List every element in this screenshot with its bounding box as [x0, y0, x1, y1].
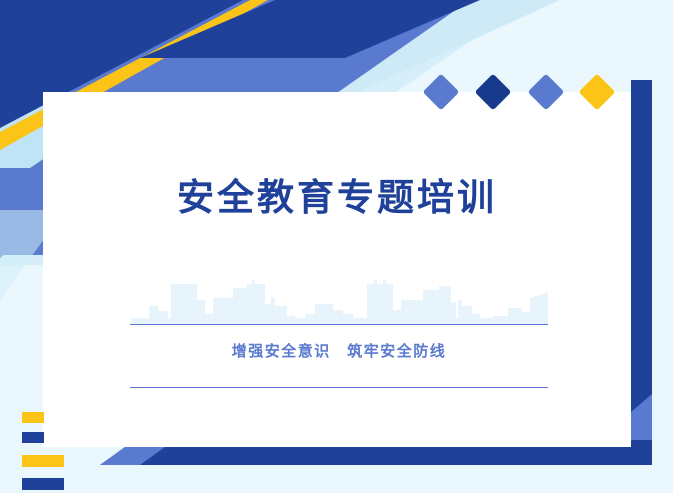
diamond-decoration-row: [420, 72, 620, 114]
corner-bar-short-navy: [22, 432, 44, 443]
divider-line-bottom: [130, 387, 548, 388]
diamond-2: [475, 74, 512, 111]
divider-line-top: [130, 324, 548, 325]
corner-bar-short-yellow: [22, 412, 44, 423]
subtitle: 增强安全意识 筑牢安全防线: [130, 340, 548, 361]
diamond-3: [528, 74, 565, 111]
corner-bar-long-yellow: [22, 455, 64, 467]
presentation-slide: 安全教育专题培训: [0, 0, 673, 493]
city-skyline-silhouette: [131, 276, 548, 324]
diamond-1: [423, 74, 460, 111]
page-title: 安全教育专题培训: [43, 178, 631, 219]
corner-bar-long-navy: [22, 478, 64, 490]
content-card: [43, 92, 631, 447]
diamond-4: [579, 74, 616, 111]
